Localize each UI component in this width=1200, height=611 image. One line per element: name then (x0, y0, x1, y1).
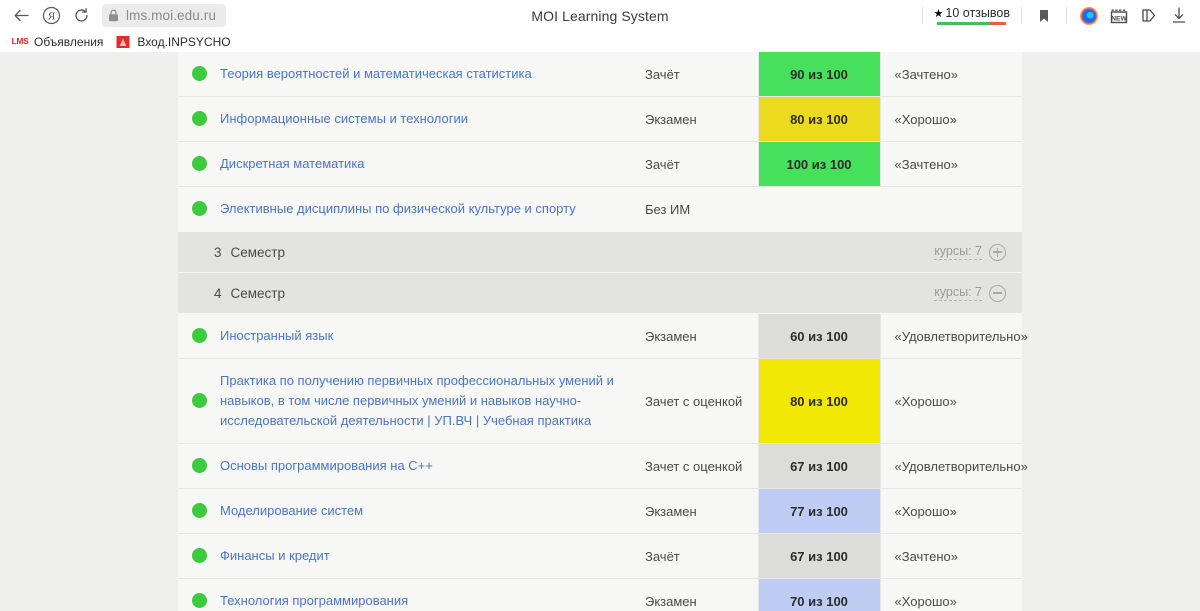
lms-favicon-icon: LMS (12, 35, 28, 49)
semester-toggle-collapse-icon[interactable] (989, 285, 1006, 302)
browser-toolbar: Я lms.moi.edu.ru MOI Learning System (0, 0, 1200, 31)
course-score-cell: 90 из 100 (758, 52, 880, 97)
course-row: Дискретная математикаЗачёт100 из 100«Зач… (178, 142, 1022, 187)
course-status-cell (178, 534, 220, 579)
back-arrow-icon[interactable] (6, 3, 36, 29)
course-mark-cell: «Удовлетворительно» (880, 444, 1022, 489)
course-status-cell (178, 359, 220, 444)
course-status-cell (178, 142, 220, 187)
course-name-link[interactable]: Практика по получению первичных професси… (220, 359, 645, 444)
course-row: Технология программированияЭкзамен70 из … (178, 579, 1022, 611)
svg-text:NEW: NEW (1111, 15, 1127, 22)
lock-icon (108, 9, 119, 22)
yandex-profile-icon[interactable]: Я (36, 3, 66, 29)
address-bar[interactable]: lms.moi.edu.ru (102, 4, 226, 27)
course-mark-cell: «Удовлетворительно» (880, 314, 1022, 359)
course-row: Элективные дисциплины по физической куль… (178, 187, 1022, 232)
semester-header-cell: 4Семестркурсы: 7 (178, 273, 1022, 314)
toolbar-divider (922, 7, 923, 24)
downloads-icon[interactable] (1164, 3, 1194, 29)
course-mark-cell: «Хорошо» (880, 579, 1022, 611)
course-score-cell: 67 из 100 (758, 534, 880, 579)
course-assessment-form: Экзамен (645, 579, 758, 611)
course-score-cell: 70 из 100 (758, 579, 880, 611)
course-score-cell (758, 187, 880, 232)
url-text: lms.moi.edu.ru (126, 8, 216, 23)
course-mark-cell (880, 187, 1022, 232)
svg-text:Я: Я (47, 11, 55, 23)
course-name-link[interactable]: Финансы и кредит (220, 534, 645, 579)
toolbar-divider (1021, 7, 1022, 24)
course-score-cell: 60 из 100 (758, 314, 880, 359)
semester-number: 3 (214, 245, 222, 260)
course-name-link[interactable]: Информационные системы и технологии (220, 97, 645, 142)
course-assessment-form: Без ИМ (645, 187, 758, 232)
star-icon: ★ (934, 7, 944, 20)
bookmark-label: Вход.INPSYCHO (137, 35, 230, 49)
status-dot-green-icon (192, 503, 207, 518)
semester-label: Семестр (231, 286, 286, 301)
course-mark-cell: «Зачтено» (880, 52, 1022, 97)
semester-header-row[interactable]: 4Семестркурсы: 7 (178, 273, 1022, 314)
status-dot-green-icon (192, 66, 207, 81)
bookmark-flag-icon[interactable] (1029, 3, 1059, 29)
course-row: Теория вероятностей и математическая ста… (178, 52, 1022, 97)
course-assessment-form: Экзамен (645, 489, 758, 534)
course-assessment-form: Зачёт (645, 142, 758, 187)
semester-toggle-expand-icon[interactable] (989, 244, 1006, 261)
status-dot-green-icon (192, 393, 207, 408)
status-dot-green-icon (192, 156, 207, 171)
bookmark-label: Объявления (34, 35, 103, 49)
course-mark-cell: «Зачтено» (880, 534, 1022, 579)
inpsycho-favicon-icon (115, 35, 131, 49)
semester-header-cell: 3Семестркурсы: 7 (178, 232, 1022, 273)
course-name-link[interactable]: Основы программирования на С++ (220, 444, 645, 489)
calendar-new-extension-icon[interactable]: NEW (1104, 3, 1134, 29)
course-score-cell: 77 из 100 (758, 489, 880, 534)
course-assessment-form: Зачёт (645, 534, 758, 579)
tag-extension-icon[interactable] (1134, 3, 1164, 29)
course-row: Информационные системы и технологииЭкзам… (178, 97, 1022, 142)
course-name-link[interactable]: Элективные дисциплины по физической куль… (220, 187, 645, 232)
course-row: Финансы и кредитЗачёт67 из 100«Зачтено» (178, 534, 1022, 579)
grades-panel: Теория вероятностей и математическая ста… (178, 52, 1022, 611)
course-status-cell (178, 187, 220, 232)
semester-header-row[interactable]: 3Семестркурсы: 7 (178, 232, 1022, 273)
course-assessment-form: Зачет с оценкой (645, 359, 758, 444)
course-assessment-form: Экзамен (645, 97, 758, 142)
course-row: Практика по получению первичных професси… (178, 359, 1022, 444)
course-name-link[interactable]: Теория вероятностей и математическая ста… (220, 52, 645, 97)
browser-chrome: Я lms.moi.edu.ru MOI Learning System (0, 0, 1200, 52)
semester-number: 4 (214, 286, 222, 301)
course-status-cell (178, 489, 220, 534)
bookmark-obyavleniya[interactable]: LMS Объявления (6, 32, 109, 51)
rating-bar (937, 22, 1006, 25)
course-status-cell (178, 444, 220, 489)
toolbar-right-actions: ★ 10 отзывов (915, 3, 1194, 29)
grades-table: Теория вероятностей и математическая ста… (178, 52, 1022, 611)
course-row: Иностранный языкЭкзамен60 из 100«Удовлет… (178, 314, 1022, 359)
course-row: Моделирование системЭкзамен77 из 100«Хор… (178, 489, 1022, 534)
course-name-link[interactable]: Моделирование систем (220, 489, 645, 534)
bookmark-vhod-inpsycho[interactable]: Вход.INPSYCHO (109, 32, 236, 51)
site-rating-widget[interactable]: ★ 10 отзывов (930, 6, 1014, 25)
status-dot-green-icon (192, 328, 207, 343)
semester-courses-count[interactable]: курсы: 7 (934, 244, 982, 260)
course-mark-cell: «Хорошо» (880, 359, 1022, 444)
course-score-cell: 80 из 100 (758, 97, 880, 142)
course-name-link[interactable]: Дискретная математика (220, 142, 645, 187)
status-dot-green-icon (192, 458, 207, 473)
course-name-link[interactable]: Технология программирования (220, 579, 645, 611)
semester-label: Семестр (231, 245, 286, 260)
status-dot-green-icon (192, 201, 207, 216)
colorful-circle-extension-icon[interactable] (1074, 3, 1104, 29)
course-score-cell: 67 из 100 (758, 444, 880, 489)
semester-courses-count[interactable]: курсы: 7 (934, 285, 982, 301)
grades-table-body: Теория вероятностей и математическая ста… (178, 52, 1022, 611)
course-status-cell (178, 97, 220, 142)
course-assessment-form: Зачет с оценкой (645, 444, 758, 489)
course-name-link[interactable]: Иностранный язык (220, 314, 645, 359)
course-status-cell (178, 52, 220, 97)
course-assessment-form: Экзамен (645, 314, 758, 359)
course-mark-cell: «Зачтено» (880, 142, 1022, 187)
course-status-cell (178, 314, 220, 359)
bookmarks-bar: LMS Объявления Вход.INPSYCHO (0, 31, 1200, 52)
page-viewport: Теория вероятностей и математическая ста… (0, 52, 1200, 611)
course-score-cell: 80 из 100 (758, 359, 880, 444)
course-assessment-form: Зачёт (645, 52, 758, 97)
rating-label: 10 отзывов (945, 6, 1010, 20)
toolbar-divider (1066, 7, 1067, 24)
status-dot-green-icon (192, 593, 207, 608)
course-row: Основы программирования на С++Зачет с оц… (178, 444, 1022, 489)
status-dot-green-icon (192, 111, 207, 126)
course-mark-cell: «Хорошо» (880, 489, 1022, 534)
status-dot-green-icon (192, 548, 207, 563)
course-status-cell (178, 579, 220, 611)
course-score-cell: 100 из 100 (758, 142, 880, 187)
course-mark-cell: «Хорошо» (880, 97, 1022, 142)
reload-icon[interactable] (66, 3, 96, 29)
